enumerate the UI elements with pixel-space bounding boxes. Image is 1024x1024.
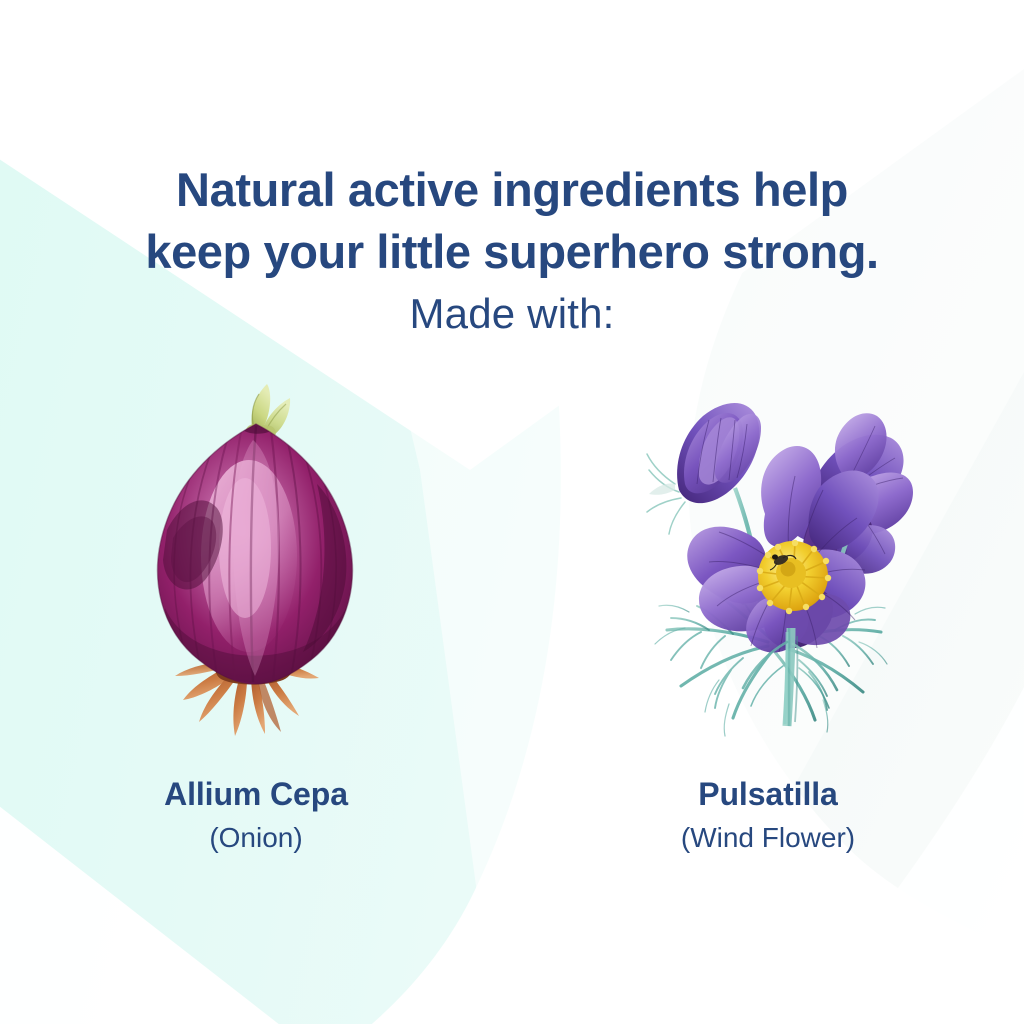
ingredient-botanical-name: Pulsatilla	[698, 778, 838, 810]
made-with-label: Made with:	[0, 290, 1024, 338]
onion-bulb	[158, 422, 353, 684]
headline-line-1: Natural active ingredients help	[0, 159, 1024, 220]
promotional-graphic-canvas: Natural active ingredients help keep you…	[0, 0, 1024, 1024]
onion-watercolor-illustration	[141, 380, 371, 750]
ingredient-item-allium-cepa: Allium Cepa (Onion)	[0, 380, 512, 900]
pulsatilla-illustration-wrap	[512, 380, 1024, 750]
ingredient-item-pulsatilla: Pulsatilla (Wind Flower)	[512, 380, 1024, 900]
onion-illustration-wrap	[0, 380, 512, 750]
pulsatilla-watercolor-illustration	[623, 380, 913, 750]
ingredient-common-name: (Wind Flower)	[681, 824, 855, 852]
ingredient-common-name: (Onion)	[209, 824, 302, 852]
headline-line-2: keep your little superhero strong.	[0, 221, 1024, 282]
ingredient-botanical-name: Allium Cepa	[164, 778, 348, 810]
headline: Natural active ingredients help keep you…	[0, 159, 1024, 281]
ingredients-row: Allium Cepa (Onion)	[0, 380, 1024, 900]
